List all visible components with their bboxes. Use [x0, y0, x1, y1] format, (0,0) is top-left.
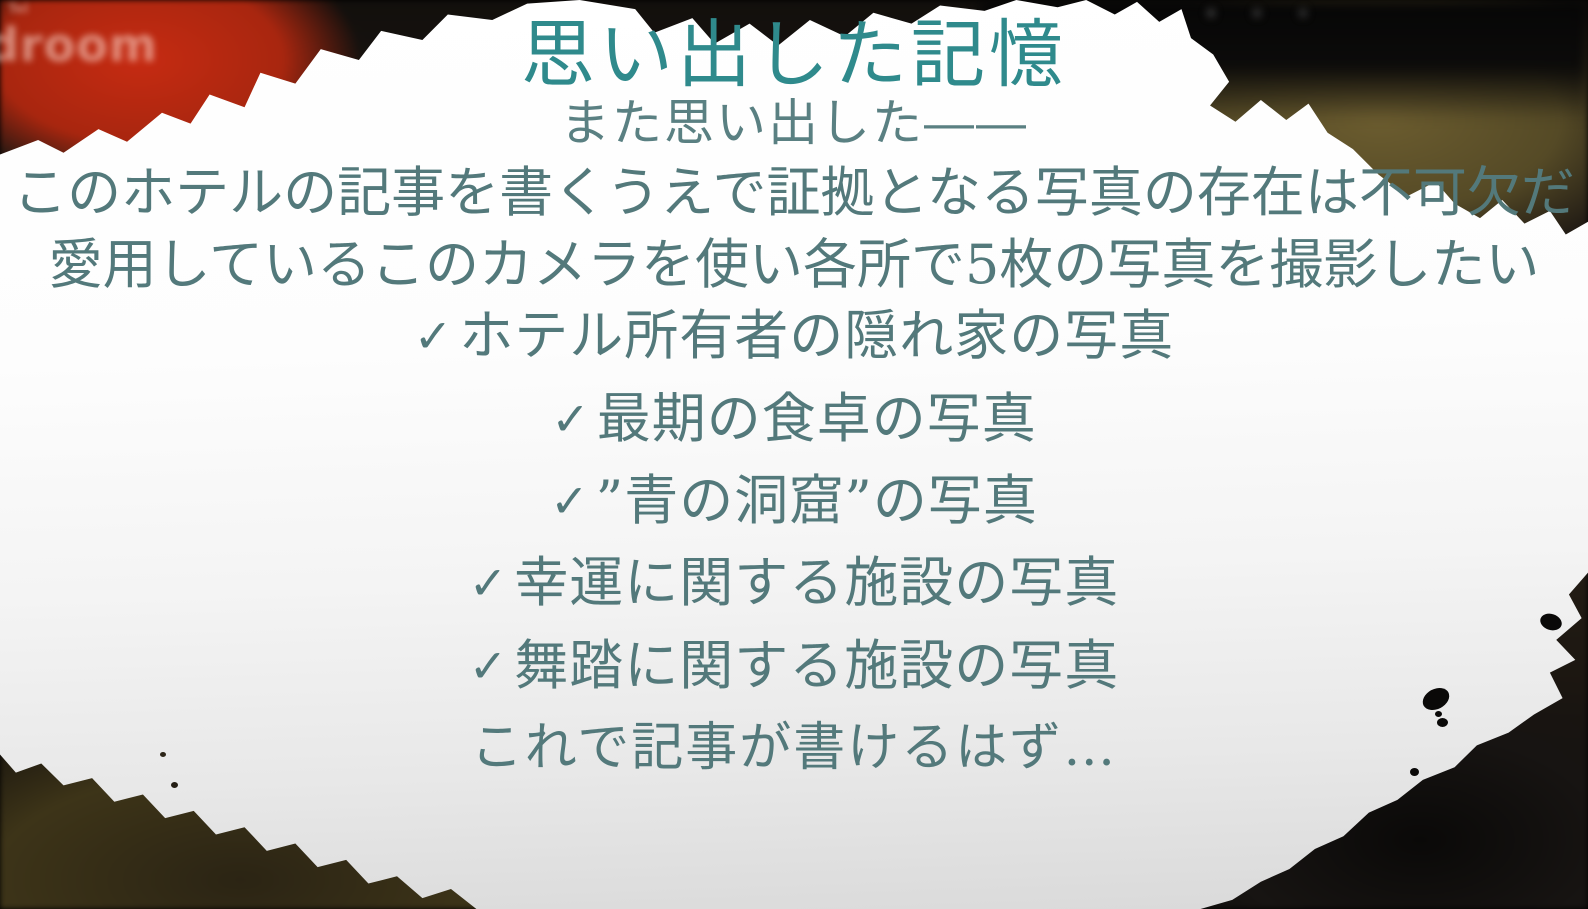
- objective-item: ✓ホテル所有者の隠れ家の写真: [0, 306, 1588, 365]
- memory-note-content: 思い出した記憶 また思い出した―― このホテルの記事を書くうえで証拠となる写真の…: [0, 0, 1588, 909]
- objective-label: ホテル所有者の隠れ家の写真: [459, 304, 1174, 367]
- objective-checklist: ✓ホテル所有者の隠れ家の写真 ✓最期の食卓の写真 ✓”青の洞窟”の写真 ✓幸運に…: [0, 306, 1588, 718]
- memory-overlay-screen: Tel droom 思い出した記憶 また思い出した―― このホテルの記事を書くう…: [0, 0, 1588, 909]
- objective-label: ”青の洞窟”の写真: [596, 469, 1038, 532]
- intro-line-2: 愛用しているこのカメラを使い各所で5枚の写真を撮影したい: [49, 235, 1540, 294]
- memory-title: 思い出した記憶: [521, 16, 1067, 94]
- check-icon: ✓: [551, 394, 591, 445]
- objective-label: 幸運に関する施設の写真: [514, 551, 1119, 614]
- objective-item: ✓幸運に関する施設の写真: [0, 553, 1588, 612]
- check-icon: ✓: [469, 641, 509, 692]
- objective-label: 舞踏に関する施設の写真: [514, 634, 1119, 697]
- closing-line: これで記事が書けるはず…: [471, 720, 1117, 777]
- check-icon: ✓: [469, 558, 509, 609]
- objective-item: ✓”青の洞窟”の写真: [0, 471, 1588, 530]
- objective-item: ✓舞踏に関する施設の写真: [0, 636, 1588, 695]
- objective-label: 最期の食卓の写真: [597, 387, 1037, 450]
- check-icon: ✓: [414, 311, 454, 362]
- intro-line-1: このホテルの記事を書くうえで証拠となる写真の存在は不可欠だ: [13, 163, 1575, 222]
- memory-subtitle: また思い出した――: [560, 96, 1028, 151]
- check-icon: ✓: [550, 476, 590, 527]
- objective-item: ✓最期の食卓の写真: [0, 389, 1588, 448]
